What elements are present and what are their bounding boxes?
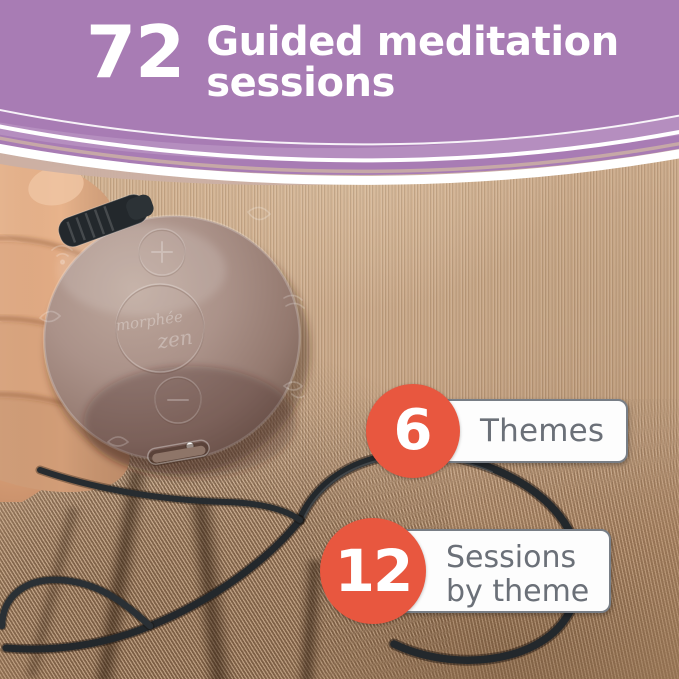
callout-themes-number: 6 bbox=[366, 384, 460, 478]
callout-sessions-number: 12 bbox=[320, 518, 426, 624]
callout-themes: 6 Themes bbox=[366, 384, 628, 478]
device-leaf-icon bbox=[248, 207, 270, 219]
callout-sessions-label-line-1: Sessions bbox=[446, 541, 589, 575]
callout-sessions-label-line-2: by theme bbox=[446, 575, 589, 609]
hand-holding-device: morphée zen bbox=[0, 150, 360, 520]
product-feature-image: morphée zen bbox=[0, 0, 679, 679]
callout-sessions-by-theme: 12 Sessions by theme bbox=[320, 518, 611, 624]
header-banner: 72 Guided meditation sessions bbox=[0, 0, 679, 190]
svg-text:zen: zen bbox=[155, 325, 194, 354]
